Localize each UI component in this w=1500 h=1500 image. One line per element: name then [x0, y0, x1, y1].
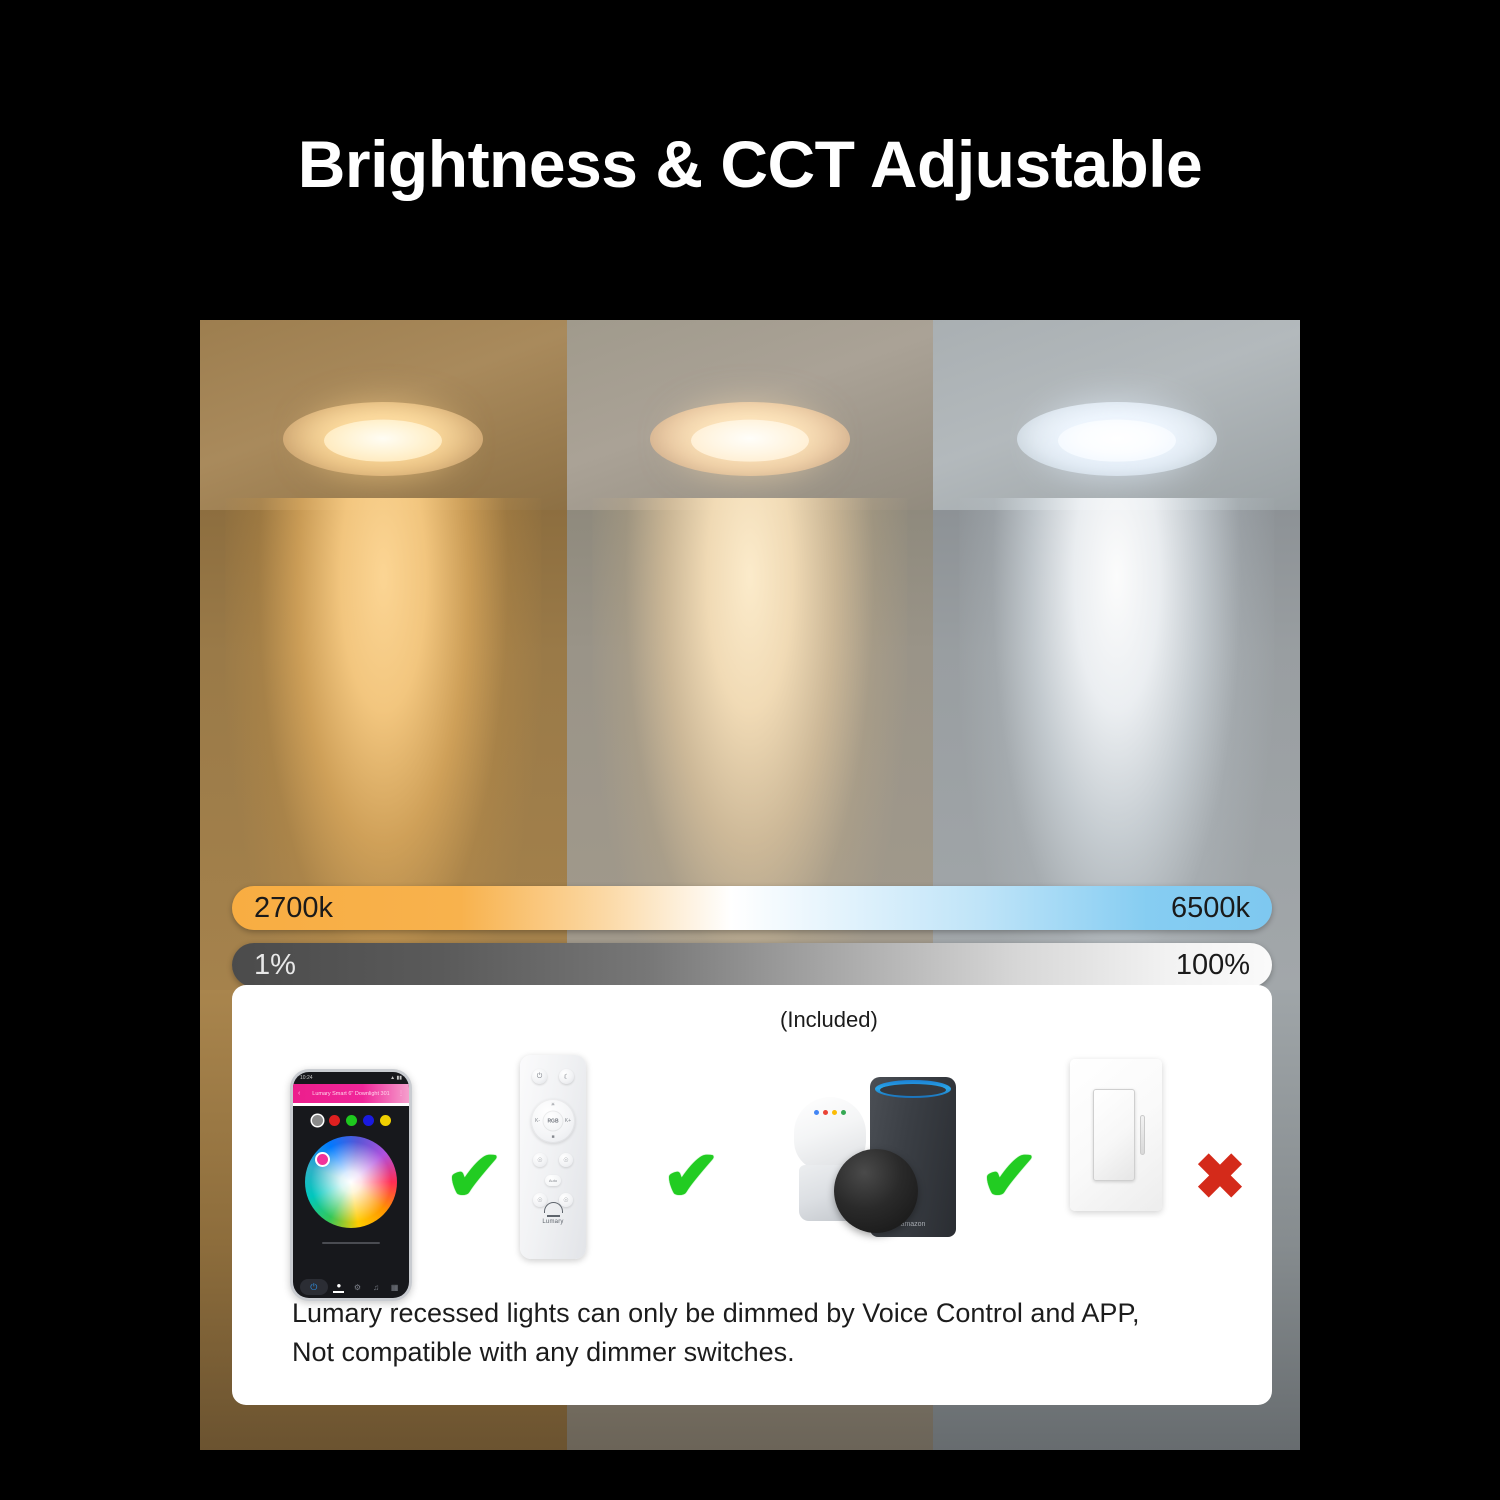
cross-icon-dimmer: ✖ [1194, 1147, 1246, 1209]
voice-assistant-speakers: amazon [792, 1071, 992, 1261]
caption-line-2: Not compatible with any dimmer switches. [292, 1333, 1222, 1371]
ir-remote-control: ⏻ ☾ ☀ ■ K- K+ RGB ☉ ☉ Auto ☉ ☉ Lumary [520, 1055, 586, 1259]
brightness-min-label: 1% [254, 949, 296, 982]
wall-dimmer-switch [1070, 1059, 1162, 1211]
swatch-custom[interactable] [312, 1115, 323, 1126]
brightness-slider[interactable]: 1% 100% [232, 943, 1272, 987]
cct-max-label: 6500k [1171, 892, 1250, 925]
dimmer-slider-track[interactable] [1140, 1115, 1145, 1155]
remote-night-icon[interactable]: ☾ [559, 1069, 574, 1084]
more-icon[interactable]: ▦ [387, 1283, 402, 1292]
status-time: 10:24 [300, 1075, 313, 1081]
device-row: 10:24 ▲ ▮▮ ‹ Lumary Smart 6" Downlight 3… [232, 1013, 1272, 1263]
power-icon[interactable]: ⏻ [300, 1279, 328, 1295]
downlight-fixture-icon [1017, 402, 1217, 476]
cct-down-label[interactable]: K- [535, 1118, 540, 1124]
cct-slider[interactable]: 2700k 6500k [232, 886, 1272, 930]
cct-up-label[interactable]: K+ [565, 1118, 571, 1124]
color-icon[interactable]: ● [331, 1281, 346, 1293]
swatch-blue[interactable] [363, 1115, 374, 1126]
auto-button[interactable]: Auto [545, 1175, 561, 1186]
cct-min-label: 2700k [254, 892, 333, 925]
check-icon-voice: ✔ [980, 1141, 1039, 1211]
ceiling-surface [933, 320, 1300, 510]
downlight-fixture-icon [650, 402, 850, 476]
downlight-fixture-icon [283, 402, 483, 476]
remote-power-icon[interactable]: ⏻ [532, 1069, 547, 1084]
app-bottom-nav: ⏻ ● ⚙ ♫ ▦ [293, 1279, 409, 1295]
status-icons: ▲ ▮▮ [390, 1075, 402, 1081]
downlight-lens-icon [324, 420, 442, 462]
brand-name: Lumary [520, 1219, 586, 1225]
google-home-leds [794, 1110, 866, 1115]
scene-button-1[interactable]: ☉ [533, 1153, 547, 1167]
color-swatch-row [293, 1115, 409, 1126]
menu-icon[interactable]: ⋮ [398, 1090, 404, 1097]
color-wheel-knob[interactable] [315, 1152, 330, 1167]
downlight-lens-icon [1058, 420, 1176, 462]
swatch-red[interactable] [329, 1115, 340, 1126]
slider-group: 2700k 6500k 1% 100% [232, 886, 1272, 987]
ceiling-surface [200, 320, 567, 510]
dimmer-paddle[interactable] [1093, 1089, 1135, 1181]
remote-direction-pad[interactable]: ☀ ■ K- K+ RGB [531, 1099, 575, 1143]
phone-status-bar: 10:24 ▲ ▮▮ [293, 1072, 409, 1084]
compatibility-card: (Included) 10:24 ▲ ▮▮ ‹ Lumary Smart 6" … [232, 985, 1272, 1405]
header-underline [293, 1103, 409, 1106]
phone-screen: 10:24 ▲ ▮▮ ‹ Lumary Smart 6" Downlight 3… [293, 1072, 409, 1298]
check-icon-app: ✔ [445, 1141, 504, 1211]
ceiling-surface [567, 320, 934, 510]
rgb-button[interactable]: RGB [543, 1111, 564, 1132]
lumary-bar-icon [547, 1215, 560, 1217]
lumary-dome-icon [544, 1202, 563, 1213]
swatch-yellow[interactable] [380, 1115, 391, 1126]
app-brightness-slider[interactable] [322, 1242, 380, 1244]
compatibility-caption: Lumary recessed lights can only be dimme… [292, 1294, 1222, 1371]
smartphone-mockup: 10:24 ▲ ▮▮ ‹ Lumary Smart 6" Downlight 3… [290, 1069, 412, 1301]
remote-brand-logo: Lumary [520, 1202, 586, 1225]
brightness-down-icon[interactable]: ■ [551, 1134, 554, 1140]
page-title: Brightness & CCT Adjustable [0, 126, 1500, 202]
caption-line-1: Lumary recessed lights can only be dimme… [292, 1294, 1222, 1332]
app-header: ‹ Lumary Smart 6" Downlight 301 ⋮ [293, 1084, 409, 1103]
brightness-max-label: 100% [1176, 949, 1250, 982]
brightness-up-icon[interactable]: ☀ [551, 1102, 555, 1108]
scene-button-2[interactable]: ☉ [559, 1153, 573, 1167]
downlight-lens-icon [691, 420, 809, 462]
echo-dot-speaker [834, 1149, 918, 1233]
scene-icon[interactable]: ⚙ [350, 1283, 365, 1292]
echo-light-ring [875, 1080, 951, 1098]
back-icon[interactable]: ‹ [298, 1090, 300, 1097]
swatch-green[interactable] [346, 1115, 357, 1126]
color-wheel[interactable] [305, 1136, 397, 1228]
music-icon[interactable]: ♫ [369, 1283, 384, 1292]
product-feature-image: Brightness & CCT Adjustable [0, 0, 1500, 1500]
check-icon-remote: ✔ [662, 1141, 721, 1211]
app-title: Lumary Smart 6" Downlight 301 [312, 1091, 389, 1097]
